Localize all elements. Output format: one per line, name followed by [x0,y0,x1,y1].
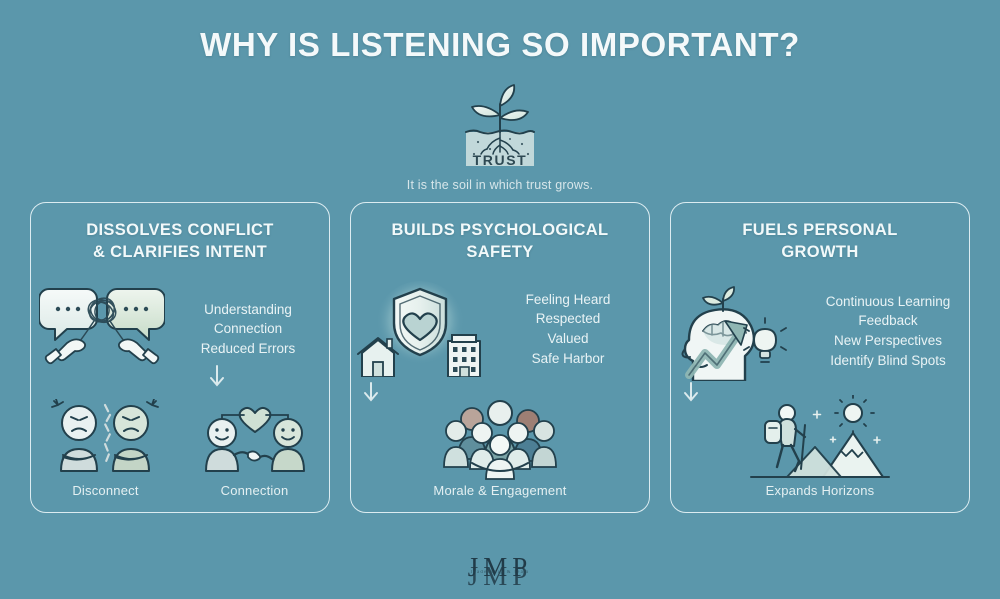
footer-logo: JMP JMP leadership & team [0,554,1000,581]
infographic-canvas: WHY IS LISTENING SO IMPORTANT? [0,0,1000,599]
angry-faces-disconnect-icon [45,399,167,481]
team-group-icon [420,397,580,481]
card-title-line1: DISSOLVES CONFLICT [86,221,274,239]
card-title-line2: SAFETY [466,243,533,261]
card-title-line2: GROWTH [781,243,858,261]
card-title-line1: FUELS PERSONAL [742,221,897,239]
hero-subtitle: It is the soil in which trust grows. [407,178,593,192]
bullet-item: Understanding [173,300,323,320]
card-mid-row: Feeling Heard Respected Valued Safe Harb… [351,281,649,377]
card-title: BUILDS PSYCHOLOGICAL SAFETY [351,220,649,264]
card-title-line2: & CLARIFIES INTENT [93,243,267,261]
hiker-mountain-sun-icon [745,395,895,481]
bullet-item: Continuous Learning [813,292,963,312]
outcome-connection: Connection [194,399,316,498]
card-outcomes: Disconnect [31,399,329,498]
card-personal-growth: FUELS PERSONAL GROWTH [670,202,970,513]
bullet-item: Safe Harbor [493,349,643,369]
outcome-label: Disconnect [45,483,167,498]
card-bullets: Continuous Learning Feedback New Perspec… [813,292,969,370]
brand-logo-tagline: leadership & team [468,570,533,575]
bullet-item: Connection [173,319,323,339]
card-bullets: Feeling Heard Respected Valued Safe Harb… [493,290,649,368]
brand-logo-overlay: JMP [468,563,533,590]
card-bullets: Understanding Connection Reduced Errors [173,300,329,359]
outcome-horizons: Expands Horizons [745,395,895,498]
outcome-morale: Morale & Engagement [420,397,580,498]
bullet-item: New Perspectives [813,331,963,351]
card-title: DISSOLVES CONFLICT & CLARIFIES INTENT [31,220,329,264]
bullet-item: Identify Blind Spots [813,351,963,371]
card-outcomes: Morale & Engagement [351,397,649,498]
benefit-cards: DISSOLVES CONFLICT & CLARIFIES INTENT [30,202,970,513]
card-dissolves-conflict: DISSOLVES CONFLICT & CLARIFIES INTENT [30,202,330,513]
outcome-label: Connection [194,483,316,498]
down-arrow-icon [31,363,329,393]
bullet-item: Feeling Heard [493,290,643,310]
handshake-heart-connection-icon [194,399,316,481]
bullet-item: Reduced Errors [173,339,323,359]
card-mid-row: Continuous Learning Feedback New Perspec… [671,281,969,381]
outcome-label: Morale & Engagement [420,483,580,498]
bullet-item: Respected [493,309,643,329]
card-title-line1: BUILDS PSYCHOLOGICAL [392,221,609,239]
shield-heart-home-office-icon [351,281,493,377]
brain-sprout-growth-arrow-icon [671,281,813,381]
card-title: FUELS PERSONAL GROWTH [671,220,969,264]
trust-soil-label: TRUST [0,152,1000,168]
page-title: WHY IS LISTENING SO IMPORTANT? [0,26,1000,64]
card-outcomes: Expands Horizons [671,395,969,498]
brand-logo-mark: JMP JMP leadership & team [468,554,533,581]
bullet-item: Valued [493,329,643,349]
outcome-label: Expands Horizons [745,483,895,498]
card-psychological-safety: BUILDS PSYCHOLOGICAL SAFETY [350,202,650,513]
bullet-item: Feedback [813,311,963,331]
outcome-disconnect: Disconnect [45,399,167,498]
